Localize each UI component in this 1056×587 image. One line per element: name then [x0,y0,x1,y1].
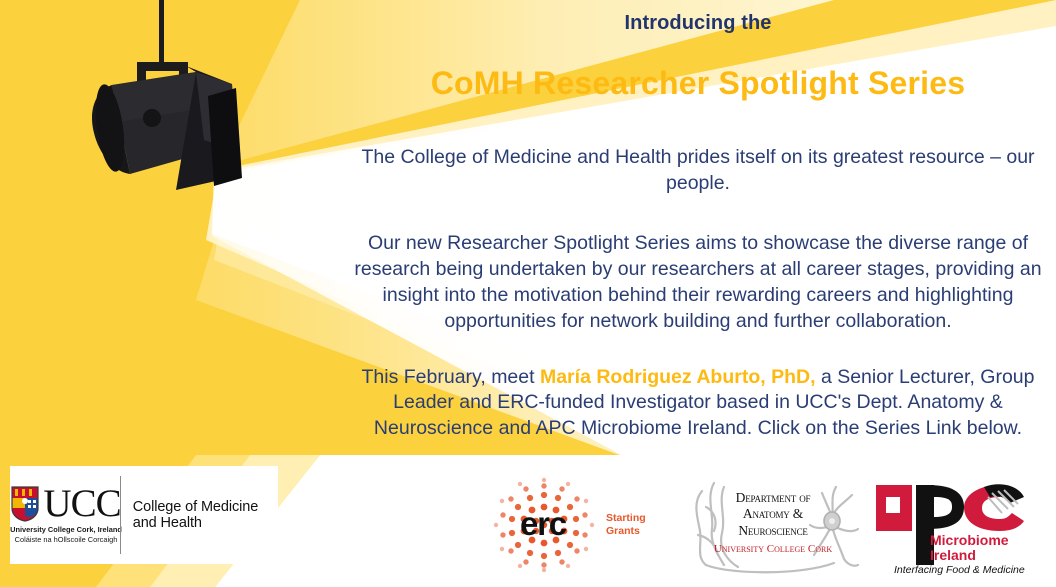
ucc-crest-icon [11,486,39,522]
erc-wordmark: erc [520,507,566,540]
apc-line-1-text: Microbiome [930,532,1009,548]
paragraph-three: This February, meet María Rodriguez Abur… [353,335,1043,443]
anatomy-line-4: University College Cork [714,543,832,556]
ucc-sub-irish: Coláiste na hOllscoile Corcaigh [15,535,118,545]
paragraph-three-prefix: This February, meet [362,366,540,388]
erc-tag-line-1: Starting [606,512,646,525]
anatomy-neuroscience-logo: Department of Anatomy & Neuroscience Uni… [684,471,862,575]
paragraph-one: The College of Medicine and Health pride… [353,102,1043,197]
kicker-text: Introducing the [340,0,1056,35]
ucc-wordmark: UCC [43,486,120,521]
spotlight-lamp-icon [0,0,340,270]
ucc-sub-english: University College Cork, Ireland [10,525,122,535]
apc-letter-c [964,484,1024,531]
apc-letter-a [876,485,912,531]
logo-band: UCC University College Cork, Ireland Col… [0,459,1056,587]
erc-dot-halo-icon: erc [492,477,596,573]
poster-text-column: Introducing the CoMH Researcher Spotligh… [340,0,1056,460]
ucc-logo-divider [120,476,121,554]
paragraph-two: Our new Researcher Spotlight Series aims… [353,197,1043,335]
ucc-comh-logo: UCC University College Cork, Ireland Col… [10,466,278,564]
researcher-spotlight-poster: Introducing the CoMH Researcher Spotligh… [0,0,1056,587]
apc-microbiome-logo: Microbiome Ireland Interfacing Food & Me… [872,469,1044,577]
anatomy-line-3: Neuroscience [738,523,807,539]
apc-line-2-text: Ireland [930,547,976,563]
erc-logo: erc Starting Grants [492,477,672,573]
anatomy-line-2: Anatomy & [743,506,803,522]
erc-programme-tag: Starting Grants [606,512,646,538]
ucc-crest-block: UCC University College Cork, Ireland Col… [10,470,118,560]
apc-tagline-text: Interfacing Food & Medicine [894,564,1025,576]
erc-tag-line-2: Grants [606,525,646,538]
ucc-college-title: College of Medicine and Health [133,499,278,531]
anatomy-logo-text: Department of Anatomy & Neuroscience Uni… [684,471,862,575]
page-title: CoMH Researcher Spotlight Series [340,35,1056,102]
researcher-name: María Rodriguez Aburto, PhD, [540,366,816,388]
lamp-cord [159,0,164,62]
anatomy-line-1: Department of [736,490,811,506]
